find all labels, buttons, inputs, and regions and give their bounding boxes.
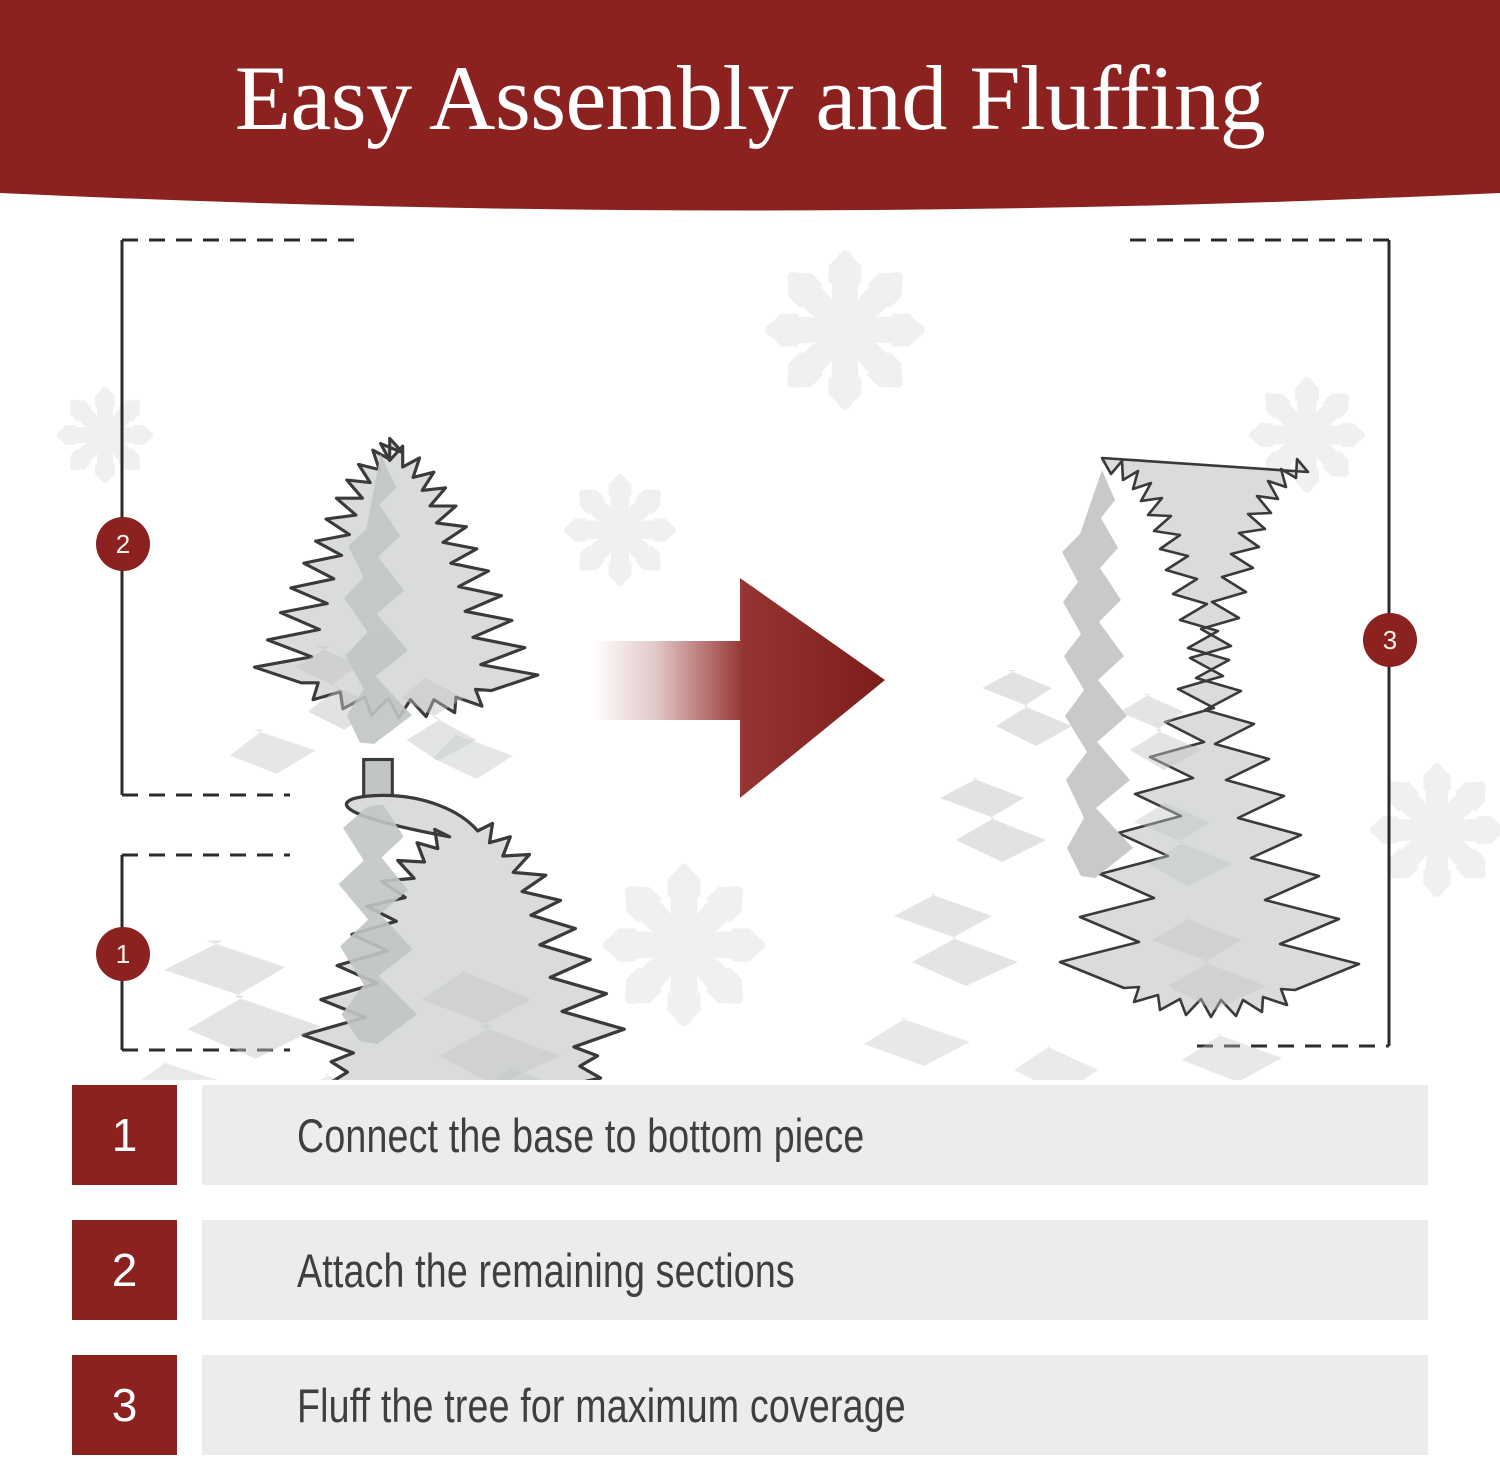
header-banner: Easy Assembly and Fluffing [0,0,1500,225]
step-number-label: 3 [112,1382,138,1428]
step-text-bar: Connect the base to bottom piece [202,1085,1428,1185]
snowflake-icon [603,864,765,1026]
step-number-label: 2 [112,1247,138,1293]
step-row: 3 Fluff the tree for maximum coverage [72,1355,1428,1455]
step-row: 1 Connect the base to bottom piece [72,1085,1428,1185]
step-description: Attach the remaining sections [297,1243,795,1298]
snowflake-icon [57,387,154,484]
step-number-badge: 3 [72,1355,177,1455]
step-text-bar: Attach the remaining sections [202,1220,1428,1320]
tree-assembled [864,458,1359,1080]
diagram-marker-2-label: 2 [116,531,130,557]
snowflake-icon [765,250,924,409]
diagram-graphics [0,210,1500,1080]
diagram-marker-3-label: 3 [1383,627,1397,653]
transition-arrow [592,578,885,798]
diagram-marker-2: 2 [96,517,150,571]
step-description: Fluff the tree for maximum coverage [297,1378,906,1433]
tree-top-section [230,438,538,814]
diagram-marker-1-label: 1 [116,941,130,967]
infographic-page: Easy Assembly and Fluffing [0,0,1500,1470]
step-description: Connect the base to bottom piece [297,1108,864,1163]
assembly-diagram [0,210,1500,1080]
snowflake-icon [564,474,676,586]
step-number-label: 1 [112,1112,138,1158]
step-number-badge: 1 [72,1085,177,1185]
step-row: 2 Attach the remaining sections [72,1220,1428,1320]
step-number-badge: 2 [72,1220,177,1320]
step-text-bar: Fluff the tree for maximum coverage [202,1355,1428,1455]
tree-bottom-section [117,795,625,1080]
page-title: Easy Assembly and Fluffing [0,0,1500,195]
diagram-marker-3: 3 [1363,613,1417,667]
steps-list: 1 Connect the base to bottom piece 2 Att… [0,1085,1500,1470]
diagram-marker-1: 1 [96,927,150,981]
